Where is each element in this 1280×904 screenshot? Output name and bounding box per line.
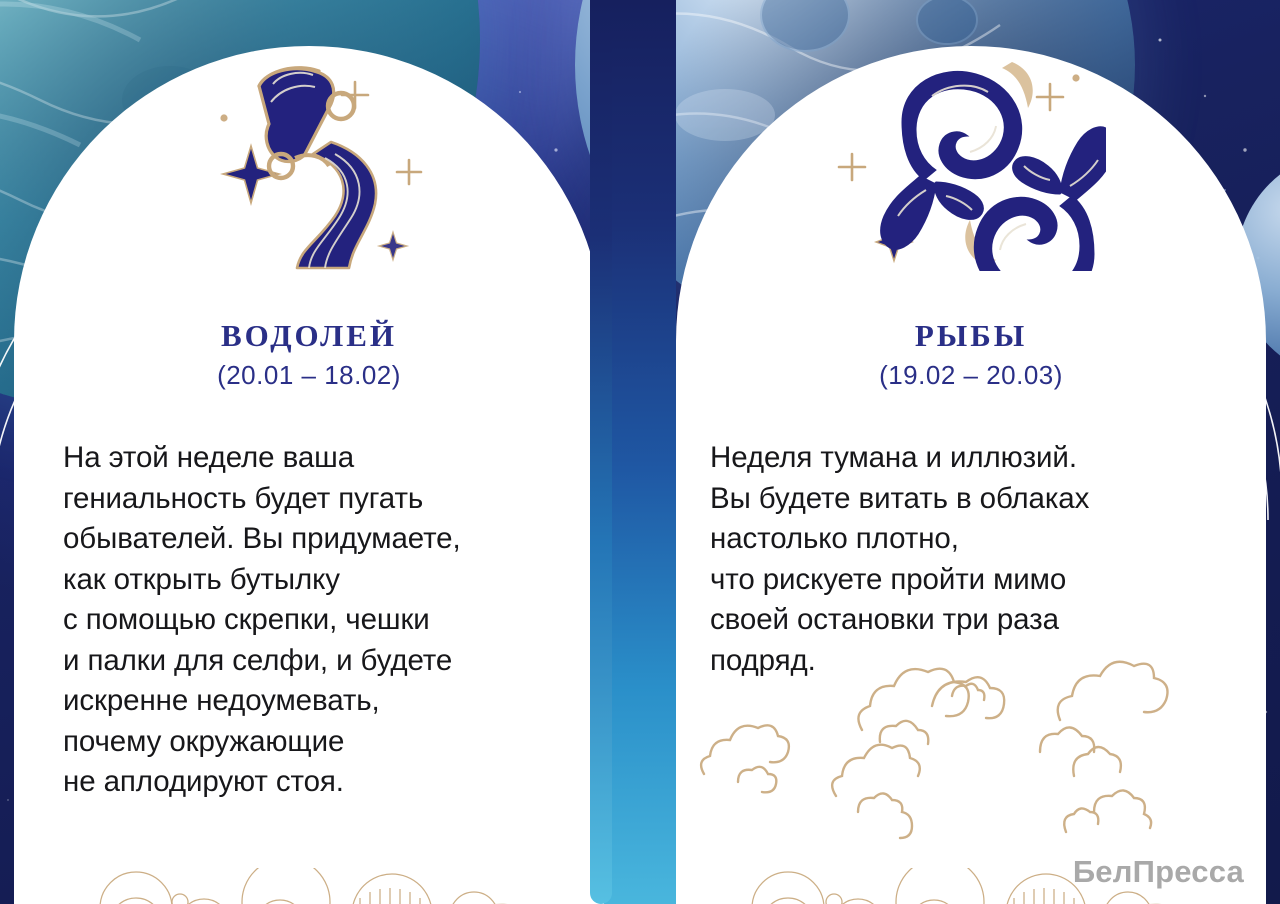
forecast-text: На этой неделе ваша гениальность будет п… bbox=[63, 438, 593, 803]
cloud-decorations bbox=[676, 646, 1266, 856]
poster-canvas: ВОДОЛЕЙ (20.01 – 18.02) На этой неделе в… bbox=[0, 0, 1280, 904]
planets-strip bbox=[14, 868, 604, 904]
sign-title: ВОДОЛЕЙ bbox=[14, 318, 604, 354]
watermark-belpressa: БелПресса bbox=[1073, 854, 1244, 890]
pisces-two-fish-icon bbox=[676, 56, 1266, 271]
center-divider bbox=[604, 0, 676, 904]
zodiac-card-aquarius: ВОДОЛЕЙ (20.01 – 18.02) На этой неделе в… bbox=[14, 46, 604, 904]
aquarius-amphora-icon bbox=[14, 56, 604, 271]
sign-title: РЫБЫ bbox=[676, 318, 1266, 354]
forecast-text: Неделя тумана и иллюзий. Вы будете витат… bbox=[710, 438, 1230, 681]
sign-dates: (20.01 – 18.02) bbox=[14, 360, 604, 391]
zodiac-card-pisces: РЫБЫ (19.02 – 20.03) Неделя тумана и илл… bbox=[676, 46, 1266, 904]
sign-dates: (19.02 – 20.03) bbox=[676, 360, 1266, 391]
